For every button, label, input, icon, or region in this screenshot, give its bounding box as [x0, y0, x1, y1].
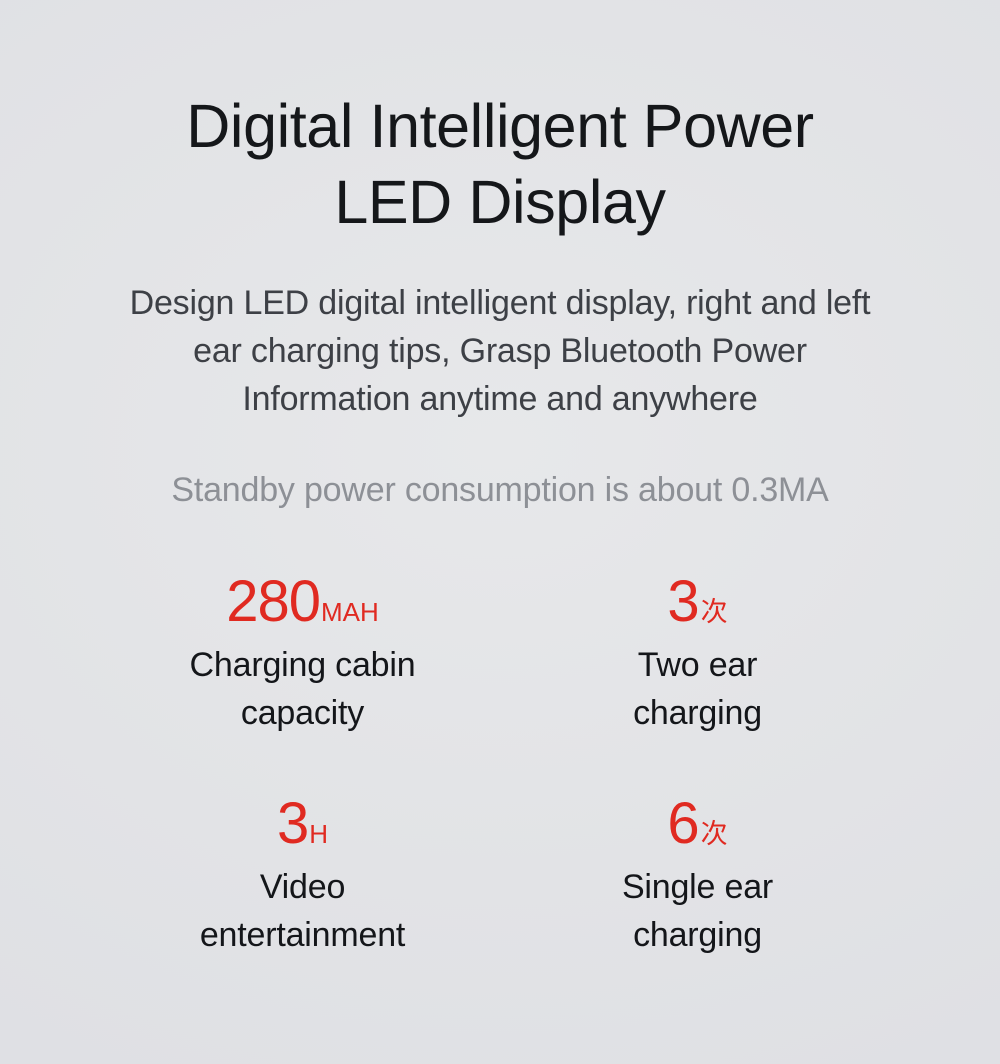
- stat-label: Charging cabin capacity: [190, 641, 416, 737]
- stat-value: 280 MAH: [226, 573, 379, 631]
- stat-label-line-1: Video: [200, 863, 405, 911]
- description-line-1: Design LED digital intelligent display, …: [0, 279, 1000, 327]
- stat-label: Video entertainment: [200, 863, 405, 959]
- stat-unit: 次: [701, 599, 728, 626]
- standby-power-note: Standby power consumption is about 0.3MA: [0, 469, 1000, 511]
- stat-label: Single ear charging: [622, 863, 773, 959]
- stat-number: 280: [226, 573, 320, 631]
- stat-two-ear-charging: 3 次 Two ear charging: [500, 573, 895, 737]
- product-feature-page: Digital Intelligent Power LED Display De…: [0, 0, 1000, 1064]
- stat-label-line-1: Charging cabin: [190, 641, 416, 689]
- stat-unit: H: [309, 821, 328, 847]
- stat-charging-cabin-capacity: 280 MAH Charging cabin capacity: [105, 573, 500, 737]
- stat-label-line-1: Two ear: [633, 641, 762, 689]
- stat-value: 3 次: [667, 573, 727, 631]
- stat-unit: MAH: [321, 599, 379, 625]
- stat-label-line-2: charging: [622, 911, 773, 959]
- stat-unit: 次: [701, 821, 728, 848]
- stat-label: Two ear charging: [633, 641, 762, 737]
- page-title: Digital Intelligent Power LED Display: [0, 88, 1000, 240]
- stat-number: 6: [667, 795, 698, 853]
- page-title-line-2: LED Display: [0, 164, 1000, 240]
- stat-label-line-2: charging: [633, 689, 762, 737]
- stat-value: 6 次: [667, 795, 727, 853]
- stat-number: 3: [667, 573, 698, 631]
- stat-value: 3 H: [277, 795, 328, 853]
- page-title-line-1: Digital Intelligent Power: [0, 88, 1000, 164]
- stat-label-line-1: Single ear: [622, 863, 773, 911]
- stats-grid: 280 MAH Charging cabin capacity 3 次 Two …: [105, 573, 895, 959]
- stat-single-ear-charging: 6 次 Single ear charging: [500, 795, 895, 959]
- stat-label-line-2: capacity: [190, 689, 416, 737]
- description-paragraph: Design LED digital intelligent display, …: [0, 279, 1000, 423]
- description-line-3: Information anytime and anywhere: [0, 375, 1000, 423]
- stat-video-entertainment: 3 H Video entertainment: [105, 795, 500, 959]
- description-line-2: ear charging tips, Grasp Bluetooth Power: [0, 327, 1000, 375]
- stat-label-line-2: entertainment: [200, 911, 405, 959]
- stat-number: 3: [277, 795, 308, 853]
